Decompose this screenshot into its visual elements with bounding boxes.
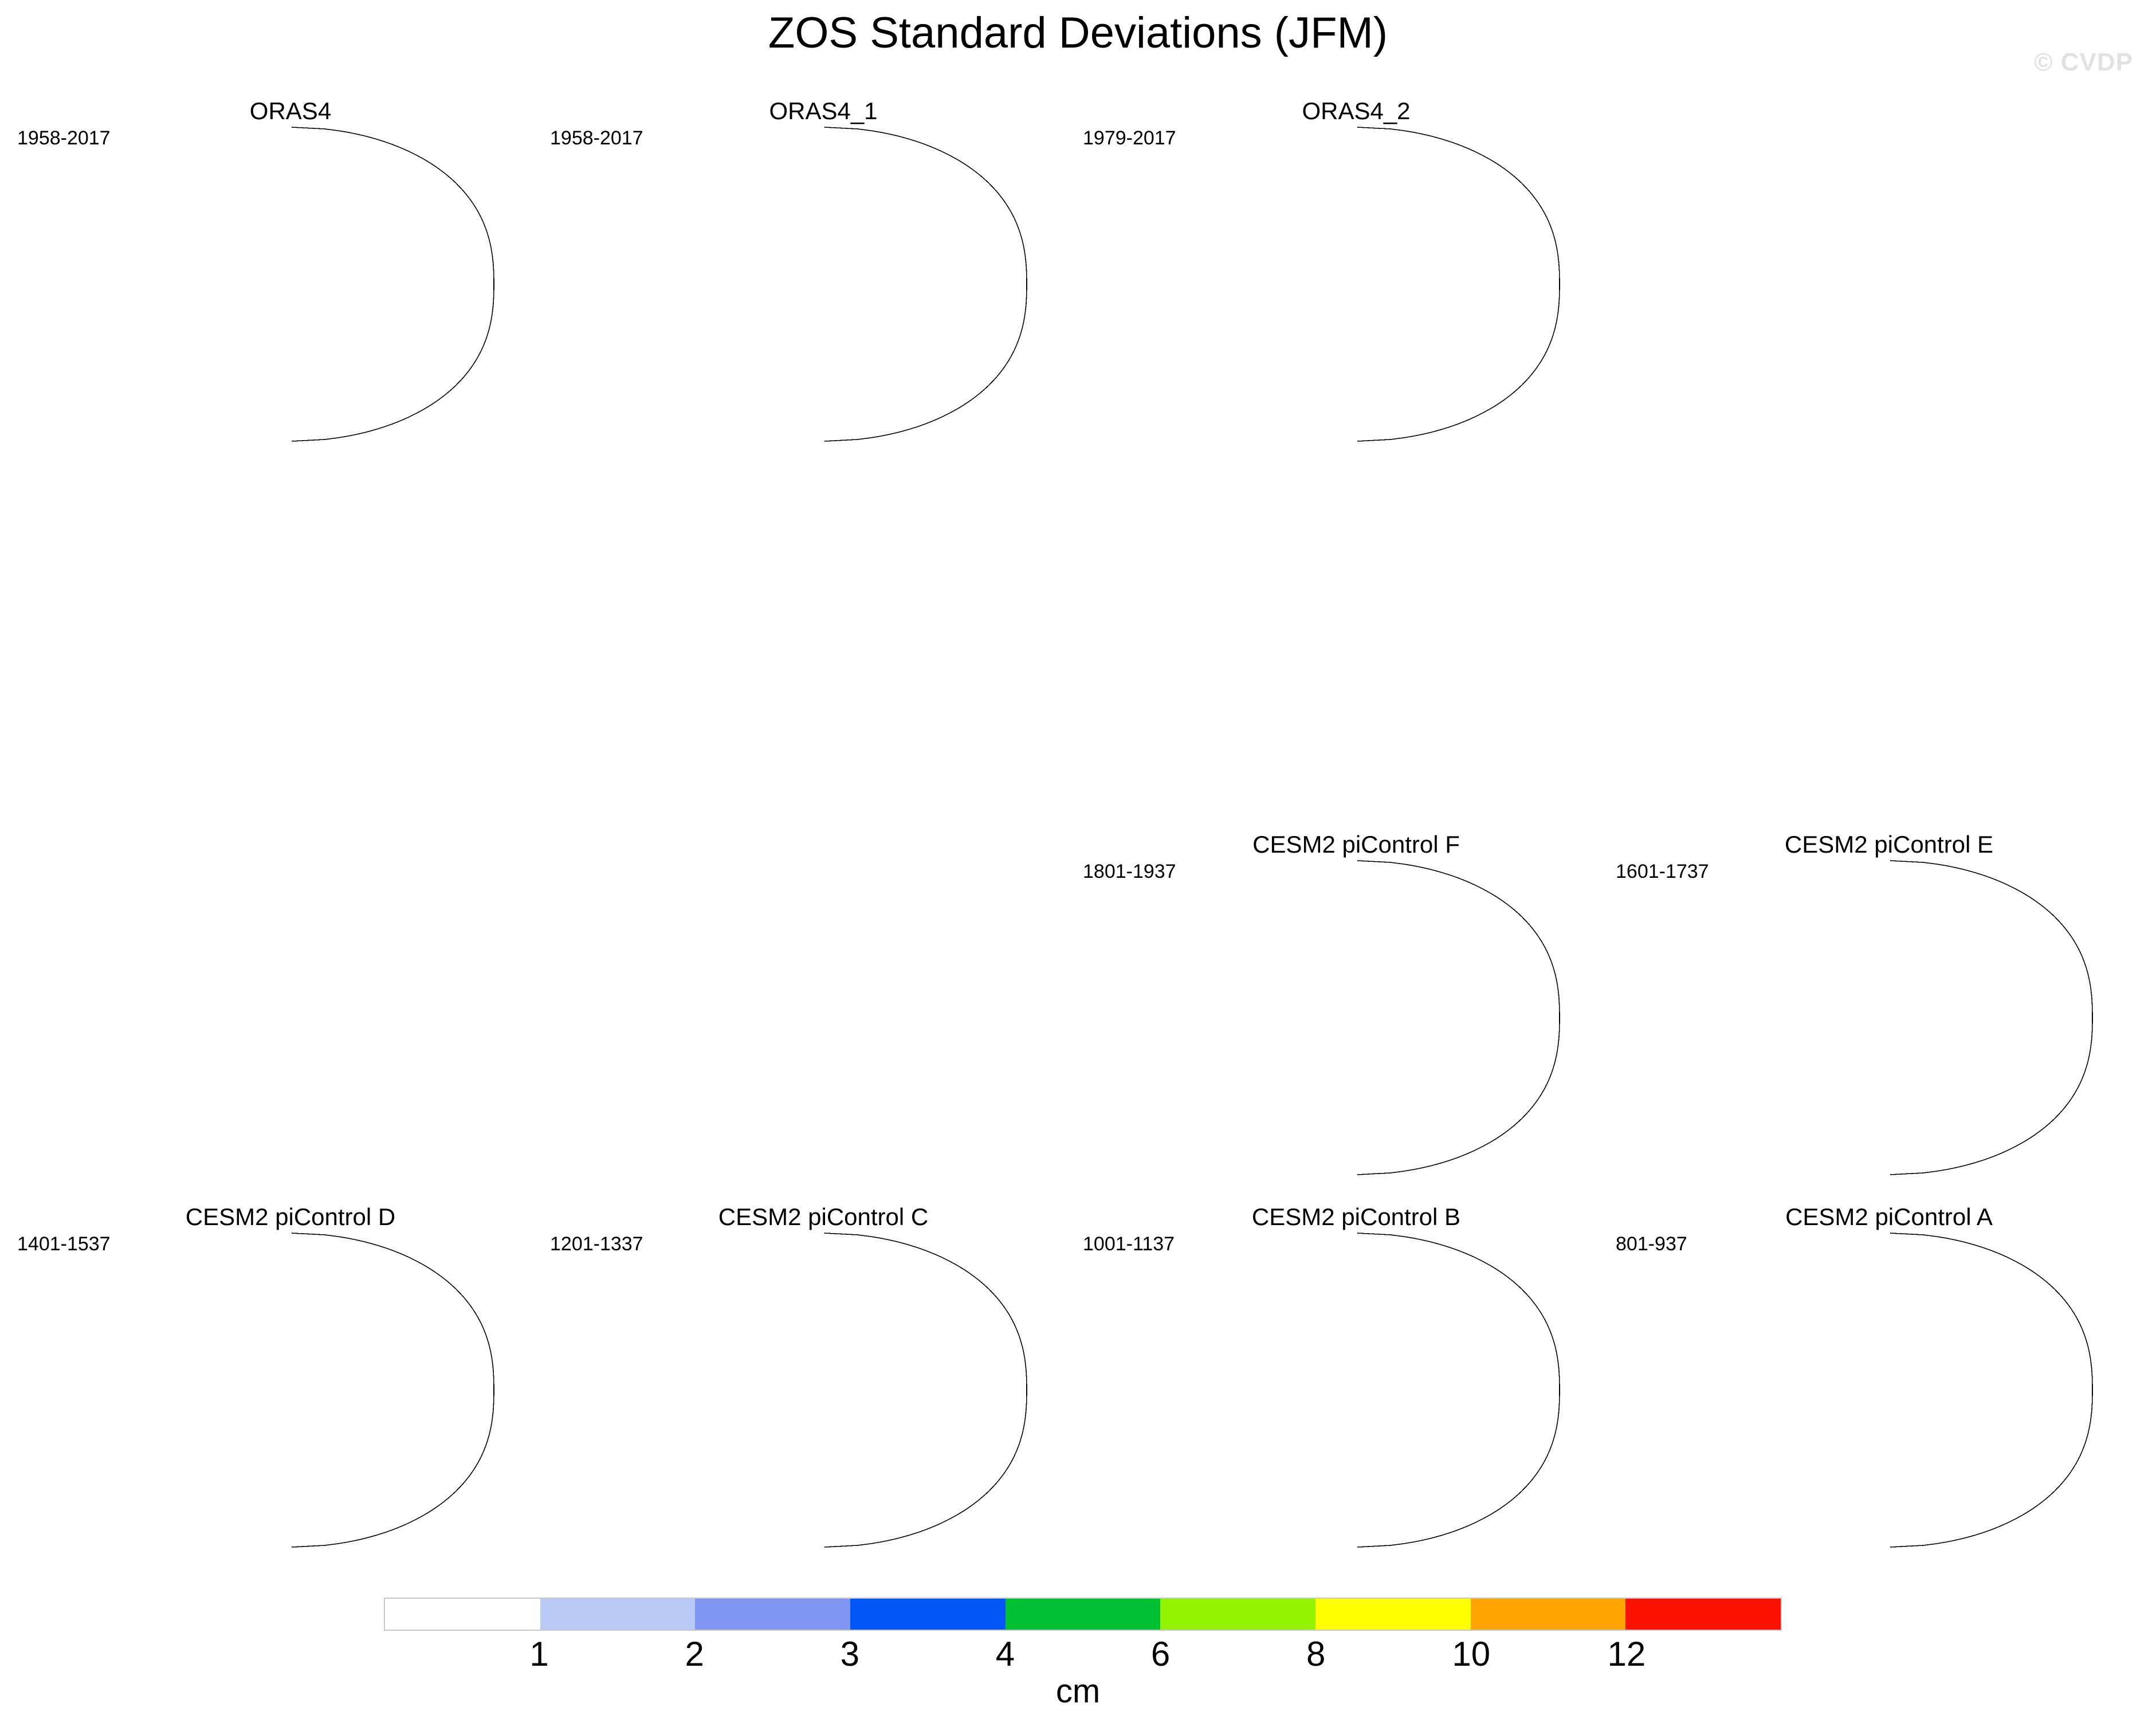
figure-canvas: ZOS Standard Deviations (JFM) © CVDP ORA… — [0, 0, 2156, 1715]
colorbar — [384, 1598, 1782, 1631]
colorbar-segment-0 — [385, 1599, 540, 1630]
colorbar-segment-4 — [1006, 1599, 1161, 1630]
map-plot-oras4 — [85, 124, 496, 445]
panel-title-picontrol_b: CESM2 piControl B — [1083, 1203, 1629, 1231]
colorbar-tick-2: 2 — [685, 1634, 704, 1674]
colorbar-segment-2 — [695, 1599, 850, 1630]
map-panel-picontrol_a[interactable]: CESM2 piControl A801-937 — [1616, 1203, 2156, 1581]
colorbar-segment-6 — [1315, 1599, 1471, 1630]
map-plot-picontrol_e — [1683, 857, 2095, 1178]
panel-title-oras4_1: ORAS4_1 — [550, 97, 1097, 125]
colorbar-segment-1 — [540, 1599, 696, 1630]
colorbar-segment-5 — [1160, 1599, 1315, 1630]
colorbar-tick-12: 12 — [1608, 1634, 1646, 1674]
colorbar-tick-1: 1 — [529, 1634, 548, 1674]
map-panel-oras4[interactable]: ORAS41958-2017 — [17, 97, 564, 476]
panel-title-picontrol_c: CESM2 piControl C — [550, 1203, 1097, 1231]
map-plot-picontrol_c — [618, 1230, 1029, 1551]
map-plot-picontrol_d — [85, 1230, 496, 1551]
map-panel-picontrol_c[interactable]: CESM2 piControl C1201-1337 — [550, 1203, 1097, 1581]
map-panel-picontrol_b[interactable]: CESM2 piControl B1001-1137 — [1083, 1203, 1629, 1581]
colorbar-unit-label: cm — [0, 1672, 2156, 1710]
colorbar-tick-10: 10 — [1452, 1634, 1490, 1674]
map-plot-oras4_1 — [618, 124, 1029, 445]
map-panel-picontrol_e[interactable]: CESM2 piControl E1601-1737 — [1616, 831, 2156, 1209]
colorbar-tick-8: 8 — [1306, 1634, 1325, 1674]
map-plot-picontrol_a — [1683, 1230, 2095, 1551]
map-plot-picontrol_f — [1150, 857, 1562, 1178]
panel-title-oras4_2: ORAS4_2 — [1083, 97, 1629, 125]
colorbar-tick-4: 4 — [996, 1634, 1015, 1674]
map-plot-oras4_2 — [1150, 124, 1562, 445]
panel-title-picontrol_a: CESM2 piControl A — [1616, 1203, 2156, 1231]
panel-title-oras4: ORAS4 — [17, 97, 564, 125]
colorbar-tick-6: 6 — [1151, 1634, 1170, 1674]
colorbar-tick-labels: 1234681012 — [384, 1634, 1782, 1674]
map-panel-picontrol_f[interactable]: CESM2 piControl F1801-1937 — [1083, 831, 1629, 1209]
panel-title-picontrol_d: CESM2 piControl D — [17, 1203, 564, 1231]
colorbar-segment-3 — [850, 1599, 1006, 1630]
panel-date-range-picontrol_a: 801-937 — [1616, 1233, 1687, 1255]
map-panel-oras4_2[interactable]: ORAS4_21979-2017 — [1083, 97, 1629, 476]
colorbar-tick-3: 3 — [841, 1634, 859, 1674]
figure-title: ZOS Standard Deviations (JFM) — [0, 8, 2156, 58]
map-panel-oras4_1[interactable]: ORAS4_11958-2017 — [550, 97, 1097, 476]
colorbar-segment-8 — [1625, 1599, 1781, 1630]
panel-title-picontrol_f: CESM2 piControl F — [1083, 831, 1629, 858]
colorbar-segment-7 — [1471, 1599, 1626, 1630]
cvdp-watermark: © CVDP — [2034, 48, 2133, 77]
map-plot-picontrol_b — [1150, 1230, 1562, 1551]
map-panel-picontrol_d[interactable]: CESM2 piControl D1401-1537 — [17, 1203, 564, 1581]
panel-title-picontrol_e: CESM2 piControl E — [1616, 831, 2156, 858]
